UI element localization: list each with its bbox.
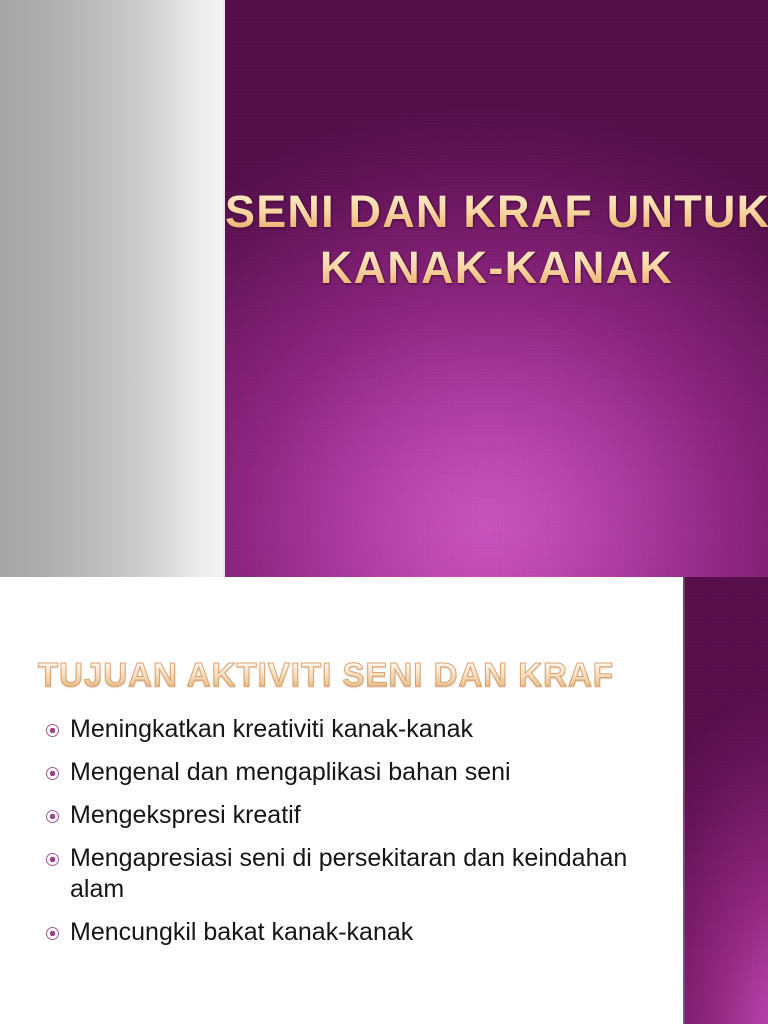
- title-slide: SENI DAN KRAF UNTUK KANAK-KANAK: [0, 0, 768, 577]
- bullet-point-icon: [46, 724, 59, 737]
- list-item-label: Meningkatkan kreativiti kanak-kanak: [70, 715, 473, 743]
- slide-title-line-2: KANAK-KANAK: [225, 240, 768, 296]
- list-item: Mengapresiasi seni di persekitaran dan k…: [46, 843, 646, 905]
- purple-side-strip: [685, 577, 768, 1024]
- list-item: Mengenal dan mengaplikasi bahan seni: [46, 757, 646, 788]
- slide-title: SENI DAN KRAF UNTUK KANAK-KANAK: [225, 184, 768, 296]
- bullet-point-icon: [46, 810, 59, 823]
- list-item: Meningkatkan kreativiti kanak-kanak: [46, 714, 646, 745]
- list-item-label: Mengekspresi kreatif: [70, 801, 301, 829]
- list-item: Mengekspresi kreatif: [46, 800, 646, 831]
- strip-texture-overlay: [685, 577, 768, 1024]
- list-item-label: Mengenal dan mengaplikasi bahan seni: [70, 758, 511, 786]
- content-heading: TUJUAN AKTIVITI SENI DAN KRAF: [38, 655, 658, 695]
- grey-gradient-panel: [0, 0, 224, 577]
- list-item: Mencungkil bakat kanak-kanak: [46, 917, 646, 948]
- list-item-label: Mengapresiasi seni di persekitaran dan k…: [70, 844, 627, 903]
- objectives-list: Meningkatkan kreativiti kanak-kanak Meng…: [46, 714, 646, 948]
- list-item-label: Mencungkil bakat kanak-kanak: [70, 918, 413, 946]
- bullet-point-icon: [46, 853, 59, 866]
- bullet-point-icon: [46, 927, 59, 940]
- slide-title-line-1: SENI DAN KRAF UNTUK: [225, 184, 768, 240]
- bullet-point-icon: [46, 767, 59, 780]
